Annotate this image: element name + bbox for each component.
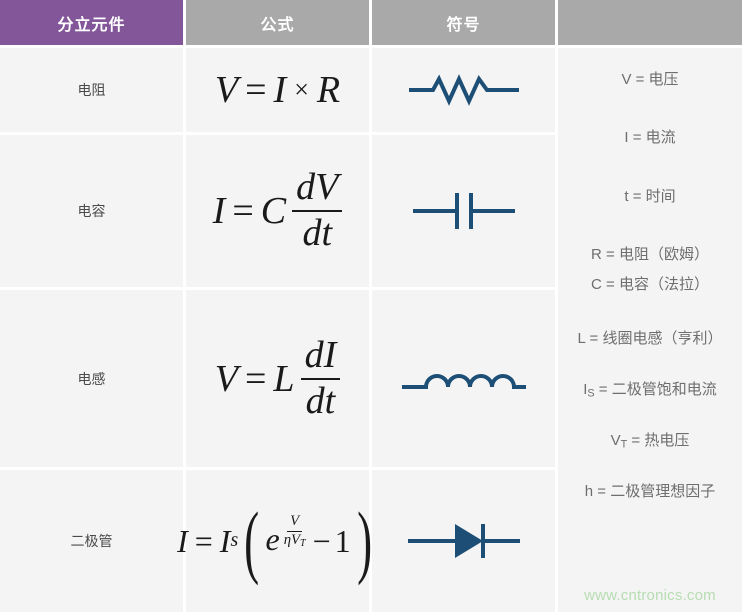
formula-lhs: V — [215, 360, 238, 398]
inductor-symbol — [401, 359, 527, 399]
legend-text-L: = 线圈电感（亨利） — [585, 330, 722, 347]
symbol-cell-inductor — [372, 290, 558, 470]
formula-equals: = — [195, 525, 213, 557]
legend-subscript-S: S — [587, 387, 594, 399]
legend-symbol-V: V — [621, 71, 631, 88]
header-label-symbol: 符号 — [446, 11, 480, 35]
legend-panel: V = 电压 I = 电流 t = 时间 R = 电阻（欧姆） C = 电容（法… — [558, 48, 742, 612]
symbol-cell-resistor — [372, 48, 558, 135]
header-label-component: 分立元件 — [57, 11, 125, 35]
exponent-VT: V — [291, 532, 300, 548]
component-name-capacitor: 电容 — [78, 201, 106, 221]
formula-coefficient: L — [273, 360, 294, 398]
formula-one: 1 — [335, 525, 351, 557]
symbol-cell-capacitor — [372, 135, 558, 290]
table-header-component: 分立元件 — [0, 0, 186, 48]
header-label-formula: 公式 — [260, 11, 294, 35]
table-header-formula: 公式 — [186, 0, 372, 48]
formula-coefficient: C — [261, 192, 286, 230]
legend-text-R: = 电阻（欧姆） — [602, 246, 709, 263]
legend-item-resistance: R = 电阻（欧姆） — [568, 245, 732, 265]
formula-inductor: V = L dI dt — [215, 336, 340, 422]
watermark: www.cntronics.com — [558, 587, 742, 604]
formula-exponent: V ηVT — [281, 514, 309, 549]
table-row: 电阻 — [0, 48, 186, 135]
formula-multiply: × — [294, 77, 309, 103]
formula-cell-diode: I = Is ( e V ηVT − 1 ) — [186, 470, 372, 612]
table-header-legend — [558, 0, 742, 48]
formula-equals: = — [245, 71, 266, 109]
table-row: 电容 — [0, 135, 186, 290]
formula-capacitor: I = C dV dt — [213, 168, 343, 254]
legend-text-C: = 电容（法拉） — [602, 276, 709, 293]
exponent-VT-subscript: T — [300, 539, 306, 550]
legend-item-time: t = 时间 — [568, 187, 732, 207]
formula-coefficient-subscript: s — [230, 531, 238, 551]
formula-exponential: e V ηVT — [265, 523, 308, 558]
legend-item-capacitance: C = 电容（法拉） — [568, 275, 732, 295]
formula-cell-inductor: V = L dI dt — [186, 290, 372, 470]
formula-fraction: dV dt — [292, 168, 342, 254]
diode-symbol — [405, 519, 523, 563]
symbol-cell-diode — [372, 470, 558, 612]
formula-coefficient: I — [220, 525, 231, 557]
formula-equals: = — [232, 192, 253, 230]
capacitor-symbol — [409, 187, 519, 235]
component-name-diode: 二极管 — [71, 531, 113, 551]
table-row: 电感 — [0, 290, 186, 470]
exponent-denominator: ηVT — [281, 532, 309, 550]
discrete-components-table: 分立元件 公式 符号 电阻 V = I × R V = 电压 I = 电流 — [0, 0, 742, 612]
formula-lhs: I — [213, 192, 226, 230]
legend-symbol-VT: V — [611, 432, 621, 449]
legend-item-thermal-voltage: VT = 热电压 — [568, 431, 732, 452]
legend-text-I: = 电流 — [629, 129, 676, 146]
table-header-symbol: 符号 — [372, 0, 558, 48]
formula-exp-base: e — [265, 523, 279, 555]
legend-item-current: I = 电流 — [568, 128, 732, 148]
formula-minus: − — [313, 525, 331, 557]
legend-symbol-h: h — [585, 483, 593, 500]
legend-text-VT: = 热电压 — [627, 432, 689, 449]
legend-item-inductance: L = 线圈电感（亨利） — [568, 329, 732, 349]
component-name-inductor: 电感 — [78, 369, 106, 389]
formula-diode: I = Is ( e V ηVT − 1 ) — [177, 516, 378, 567]
legend-symbol-C: C — [591, 276, 602, 293]
formula-lhs: I — [177, 525, 188, 557]
legend-item-ideality-factor: h = 二极管理想因子 — [568, 482, 732, 502]
formula-cell-resistor: V = I × R — [186, 48, 372, 135]
formula-equals: = — [245, 360, 266, 398]
formula-rhs-resistance: R — [317, 71, 340, 109]
formula-rhs-current: I — [274, 71, 287, 109]
formula-paren-open: ( — [244, 516, 259, 567]
legend-symbol-R: R — [591, 246, 602, 263]
table-row: 二极管 — [0, 470, 186, 612]
formula-fraction: dI dt — [301, 336, 341, 422]
fraction-denominator: dt — [298, 212, 336, 254]
legend-text-h: = 二极管理想因子 — [593, 483, 715, 500]
exponent-numerator: V — [287, 514, 302, 531]
formula-resistor: V = I × R — [215, 71, 340, 109]
resistor-symbol — [409, 72, 519, 108]
component-name-resistor: 电阻 — [78, 80, 106, 100]
legend-text-Is: = 二极管饱和电流 — [595, 381, 717, 398]
legend-item-saturation-current: IS = 二极管饱和电流 — [568, 380, 732, 401]
legend-item-voltage: V = 电压 — [568, 70, 732, 90]
legend-text-V: = 电压 — [631, 71, 678, 88]
fraction-denominator: dt — [302, 380, 340, 422]
legend-text-t: = 时间 — [629, 188, 676, 205]
formula-paren-close: ) — [357, 516, 372, 567]
fraction-numerator: dI — [301, 336, 341, 380]
formula-cell-capacitor: I = C dV dt — [186, 135, 372, 290]
formula-lhs: V — [215, 71, 238, 109]
fraction-numerator: dV — [292, 168, 342, 212]
exponent-eta: η — [284, 532, 291, 548]
